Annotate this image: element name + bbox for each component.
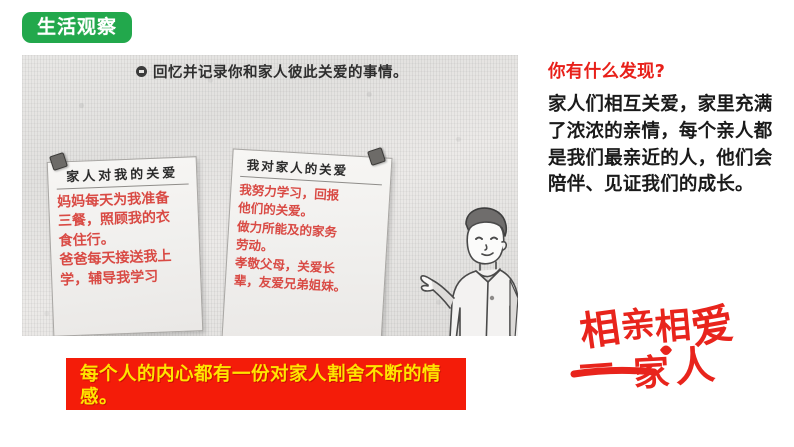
section-badge: 生活观察 [22,12,132,43]
calligraphy-artwork: 相 亲 相 爱 一 家 人 [560,288,775,406]
note-title: 家人对我的关爱 [56,162,189,186]
highlight-banner-text: 每个人的内心都有一份对家人割舍不断的情感。 [80,363,454,409]
scan-prompt: 回忆并记录你和家人彼此关爱的事情。 [42,61,502,82]
section-badge-label: 生活观察 [37,18,117,37]
calligraphy-stroke [574,370,654,374]
note-card-my-care: 我对家人的关爱 我努力学习，回报 他们的关爱。 做力所能及的家务 劳动。 孝敬父… [222,148,393,336]
calligraphy-char: 亲 [619,304,657,347]
note-body: 我努力学习，回报 他们的关爱。 做力所能及的家务 劳动。 孝敬父母，关爱长 辈，… [233,181,381,298]
note-body: 妈妈每天为我准备 三餐，照顾我的衣 食住行。 爸爸每天接送我上 学，辅导我学习 [57,189,193,290]
scan-prompt-text: 回忆并记录你和家人彼此关爱的事情。 [153,61,408,82]
discussion-question-heading: 你有什么发现? [548,58,776,83]
highlight-banner: 每个人的内心都有一份对家人割舍不断的情感。 [66,358,466,410]
scanned-textbook-image: 回忆并记录你和家人彼此关爱的事情。 家人对我的关爱 妈妈每天为我准备 三餐，照顾… [22,55,518,336]
right-text-column: 你有什么发现? 家人们相互关爱，家里充满了浓浓的亲情，每个亲人都是我们最亲近的人… [548,58,776,199]
discussion-answer-text: 家人们相互关爱，家里充满了浓浓的亲情，每个亲人都是我们最亲近的人，他们会陪伴、见… [548,92,776,199]
note-card-family-care: 家人对我的关爱 妈妈每天为我准备 三餐，照顾我的衣 食住行。 爸爸每天接送我上 … [47,156,204,336]
note-line: 学，辅导我学习 [60,266,193,290]
boy-pointing-illustration [420,198,518,336]
filled-circle-bullet-icon [136,66,147,77]
calligraphy-char: 人 [672,341,717,392]
calligraphy-char: 相 [653,304,693,349]
